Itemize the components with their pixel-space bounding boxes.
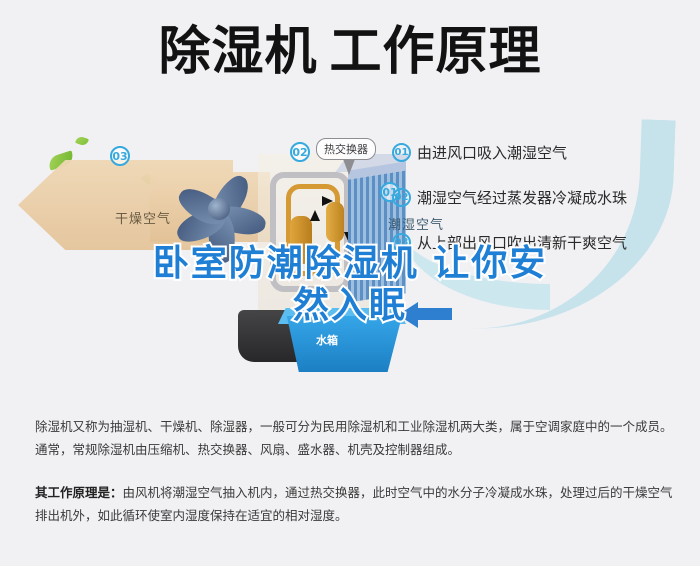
page-title-text: 除湿机工作原理 bbox=[158, 22, 541, 82]
step-text: 由进风口吸入潮湿空气 bbox=[417, 142, 567, 163]
step-text: 潮湿空气经过蒸发器冷凝成水珠 bbox=[417, 187, 627, 208]
step-item: 02 潮湿空气经过蒸发器冷凝成水珠 bbox=[392, 175, 692, 220]
badge-03: 03 bbox=[110, 146, 130, 166]
page-title: 除湿机工作原理 bbox=[0, 22, 700, 82]
title-part-1: 除湿机 bbox=[158, 22, 317, 82]
flow-arrow-right-icon bbox=[322, 196, 333, 206]
dry-air-label: 干燥空气 bbox=[115, 208, 171, 227]
leaf-icon bbox=[75, 135, 89, 147]
body-paragraph-1: 除湿机又称为抽湿机、干燥机、除湿器，一般可分为民用除湿机和工业除湿机两大类，属于… bbox=[35, 415, 675, 438]
step-item: 03 从上部出风口吹出清新干爽空气 bbox=[392, 220, 692, 265]
step-number: 01 bbox=[392, 143, 411, 162]
step-item: 01 由进风口吸入潮湿空气 bbox=[392, 130, 692, 175]
flow-arrow-up-icon bbox=[310, 210, 320, 221]
heat-exchanger-callout: 热交换器 bbox=[316, 138, 376, 160]
compressor-cylinder-secondary bbox=[326, 202, 344, 242]
water-tank bbox=[282, 316, 402, 372]
intake-arrow-bar bbox=[416, 308, 452, 320]
step-number: 03 bbox=[392, 233, 411, 252]
step-text: 从上部出风口吹出清新干爽空气 bbox=[417, 232, 627, 253]
body-copy: 除湿机又称为抽湿机、干燥机、除湿器，一般可分为民用除湿机和工业除湿机两大类，属于… bbox=[35, 415, 675, 527]
body-copy-block-2: 其工作原理是：由风机将潮湿空气抽入机内，通过热交换器，此时空气中的水分子冷凝成水… bbox=[35, 481, 675, 527]
fan-icon bbox=[172, 164, 276, 264]
badge-02: 02 bbox=[290, 142, 310, 162]
compressor-cylinder bbox=[290, 216, 312, 264]
title-part-2: 工作原理 bbox=[330, 22, 542, 82]
body-paragraph-2: 通常，常规除湿机由压缩机、热交换器、风扇、盛水器、机壳及控制器组成。 bbox=[35, 438, 675, 461]
body-paragraph-3-lead: 其工作原理是： bbox=[35, 485, 123, 500]
body-paragraph-3: 其工作原理是：由风机将潮湿空气抽入机内，通过热交换器，此时空气中的水分子冷凝成水… bbox=[35, 481, 675, 504]
water-tank-label: 水箱 bbox=[316, 332, 338, 348]
body-paragraph-4: 排出机外，如此循环使室内湿度保持在适宜的相对湿度。 bbox=[35, 504, 675, 527]
body-paragraph-3-rest: 由风机将潮湿空气抽入机内，通过热交换器，此时空气中的水分子冷凝成水珠，处理过后的… bbox=[123, 485, 673, 500]
infographic-page: 除湿机工作原理 bbox=[0, 0, 700, 566]
steps-list: 01 由进风口吸入潮湿空气 02 潮湿空气经过蒸发器冷凝成水珠 03 从上部出风… bbox=[392, 130, 692, 265]
step-number: 02 bbox=[392, 188, 411, 207]
fan-hub bbox=[208, 198, 230, 220]
compressor-coil-assembly bbox=[268, 172, 360, 307]
